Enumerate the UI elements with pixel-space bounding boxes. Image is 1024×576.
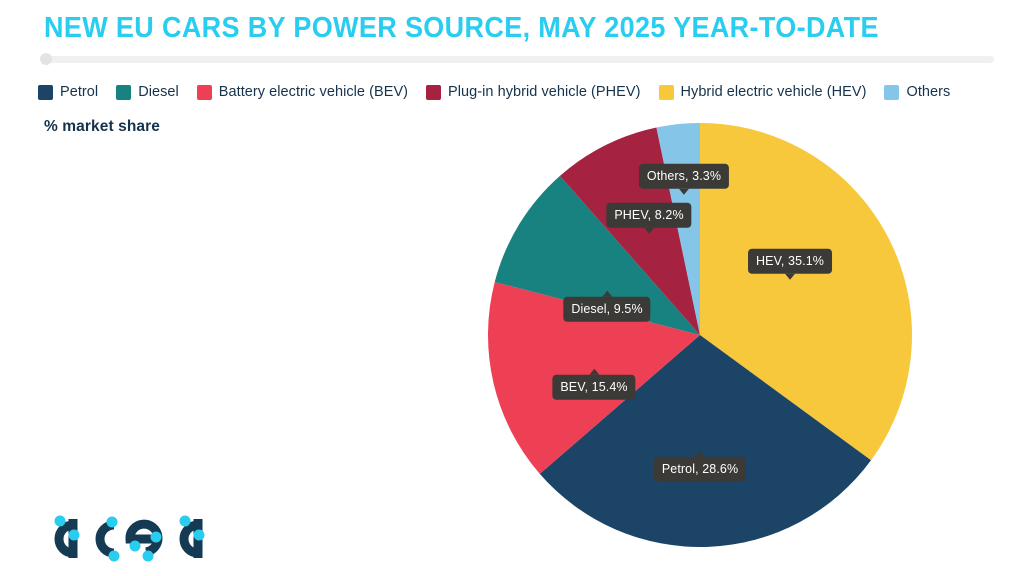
legend-swatch-icon [884,85,899,100]
legend-item-petrol[interactable]: Petrol [38,84,98,100]
legend-item-label: Battery electric vehicle (BEV) [219,84,408,100]
pie-label-phev: PHEV, 8.2% [606,203,691,228]
legend-item-label: Petrol [60,84,98,100]
legend-item-hybrid-electric-vehicle-hev[interactable]: Hybrid electric vehicle (HEV) [659,84,867,100]
acea-logo [38,498,218,568]
pie-label-diesel: Diesel, 9.5% [563,297,650,322]
legend-swatch-icon [426,85,441,100]
pie-label-petrol: Petrol, 28.6% [654,457,746,482]
legend-item-diesel[interactable]: Diesel [116,84,179,100]
legend-swatch-icon [659,85,674,100]
pie-label-hev: HEV, 35.1% [748,249,832,274]
pie-label-bev: BEV, 15.4% [552,375,635,400]
legend-item-label: Hybrid electric vehicle (HEV) [681,84,867,100]
pie-label-others: Others, 3.3% [639,164,729,189]
divider-track[interactable] [42,56,994,63]
legend-item-battery-electric-vehicle-bev[interactable]: Battery electric vehicle (BEV) [197,84,408,100]
chart-legend: PetrolDieselBattery electric vehicle (BE… [38,84,968,100]
legend-swatch-icon [116,85,131,100]
divider-handle[interactable] [40,53,52,65]
acea-logo-mark [38,498,218,568]
legend-swatch-icon [197,85,212,100]
chart-canvas: New EU cars by power source, May 2025 ye… [0,0,1024,576]
page-title: New EU cars by power source, May 2025 ye… [44,12,879,45]
legend-item-others[interactable]: Others [884,84,950,100]
pie-chart: HEV, 35.1% Petrol, 28.6% BEV, 15.4% Dies… [485,120,915,550]
legend-swatch-icon [38,85,53,100]
legend-item-label: Others [906,84,950,100]
axis-unit-caption: % market share [44,118,160,136]
legend-item-label: Plug-in hybrid vehicle (PHEV) [448,84,640,100]
legend-item-label: Diesel [138,84,179,100]
legend-item-plug-in-hybrid-vehicle-phev[interactable]: Plug-in hybrid vehicle (PHEV) [426,84,640,100]
